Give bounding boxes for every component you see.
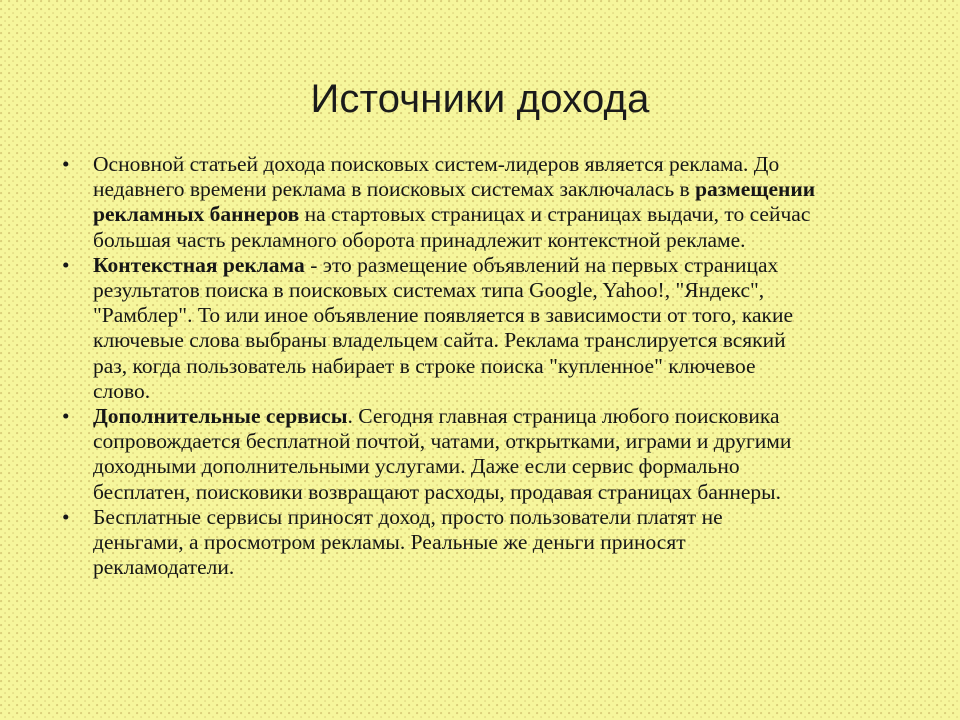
list-item: •Основной статьей дохода поисковых систе… — [57, 152, 923, 253]
text-run: слово. — [93, 379, 150, 403]
text-line: большая часть рекламного оборота принадл… — [93, 228, 923, 253]
emphasized-text: Дополнительные сервисы — [93, 404, 348, 428]
text-run: - это размещение объявлений на первых ст… — [305, 253, 778, 277]
list-item: •Дополнительные сервисы. Сегодня главная… — [57, 404, 923, 505]
text-line: Основной статьей дохода поисковых систем… — [93, 152, 923, 177]
text-run: большая часть рекламного оборота принадл… — [93, 228, 746, 252]
text-run: ключевые слова выбраны владельцем сайта.… — [93, 328, 786, 352]
bullet-list: •Основной статьей дохода поисковых систе… — [57, 152, 923, 580]
text-run: деньгами, а просмотром рекламы. Реальные… — [93, 530, 686, 554]
text-line: деньгами, а просмотром рекламы. Реальные… — [93, 530, 923, 555]
list-item: •Бесплатные сервисы приносят доход, прос… — [57, 505, 923, 581]
text-run: результатов поиска в поисковых системах … — [93, 278, 764, 302]
text-line: раз, когда пользователь набирает в строк… — [93, 354, 923, 379]
bullet-marker-icon: • — [62, 152, 76, 177]
list-item: •Контекстная реклама - это размещение об… — [57, 253, 923, 404]
bullet-marker-icon: • — [62, 253, 76, 278]
text-run: "Рамблер". То или иное объявление появля… — [93, 303, 793, 327]
text-line: Дополнительные сервисы. Сегодня главная … — [93, 404, 923, 429]
bullet-marker-icon: • — [62, 404, 76, 429]
text-line: Бесплатные сервисы приносят доход, прост… — [93, 505, 923, 530]
text-line: ключевые слова выбраны владельцем сайта.… — [93, 328, 923, 353]
text-line: сопровождается бесплатной почтой, чатами… — [93, 429, 923, 454]
text-line: доходными дополнительными услугами. Даже… — [93, 454, 923, 479]
text-line: бесплатен, поисковики возвращают расходы… — [93, 480, 923, 505]
text-line: слово. — [93, 379, 923, 404]
text-run: сопровождается бесплатной почтой, чатами… — [93, 429, 791, 453]
text-run: доходными дополнительными услугами. Даже… — [93, 454, 740, 478]
text-run: на стартовых страницах и страницах выдач… — [299, 202, 810, 226]
slide-body: •Основной статьей дохода поисковых систе… — [57, 152, 923, 580]
text-run: бесплатен, поисковики возвращают расходы… — [93, 480, 781, 504]
page-title: Источники дохода — [0, 76, 960, 122]
emphasized-text: размещении — [695, 177, 815, 201]
text-run: . Сегодня главная страница любого поиско… — [348, 404, 780, 428]
text-run: раз, когда пользователь набирает в строк… — [93, 354, 756, 378]
emphasized-text: рекламных баннеров — [93, 202, 299, 226]
text-run: рекламодатели. — [93, 555, 234, 579]
text-run: недавнего времени реклама в поисковых си… — [93, 177, 695, 201]
emphasized-text: Контекстная реклама — [93, 253, 305, 277]
presentation-slide: Источники дохода •Основной статьей доход… — [0, 0, 960, 720]
text-line: результатов поиска в поисковых системах … — [93, 278, 923, 303]
text-line: "Рамблер". То или иное объявление появля… — [93, 303, 923, 328]
text-line: недавнего времени реклама в поисковых си… — [93, 177, 923, 202]
bullet-marker-icon: • — [62, 505, 76, 530]
text-line: рекламных баннеров на стартовых страница… — [93, 202, 923, 227]
text-line: рекламодатели. — [93, 555, 923, 580]
text-run: Бесплатные сервисы приносят доход, прост… — [93, 505, 723, 529]
text-run: Основной статьей дохода поисковых систем… — [93, 152, 779, 176]
text-line: Контекстная реклама - это размещение объ… — [93, 253, 923, 278]
